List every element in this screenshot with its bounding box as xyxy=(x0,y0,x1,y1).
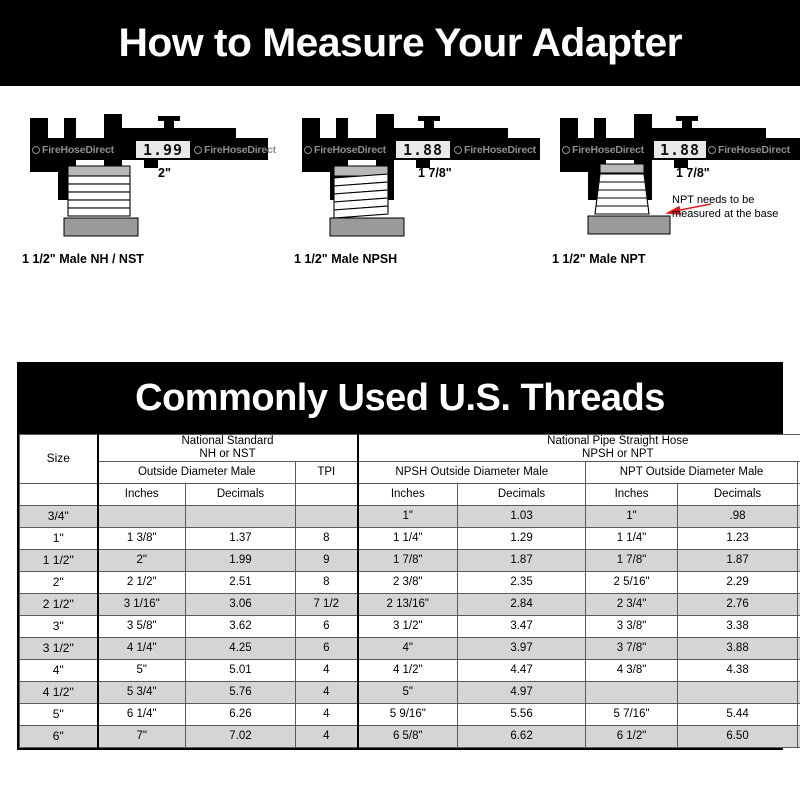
cell-nh_tpi: 6 xyxy=(296,616,358,638)
page-title: How to Measure Your Adapter xyxy=(118,21,682,66)
header-unit-inches-npt: Inches xyxy=(586,484,678,506)
cell-npsh_dec: 4.47 xyxy=(458,660,586,682)
table-title: Commonly Used U.S. Threads xyxy=(135,377,665,420)
cell-nh_in: 7" xyxy=(98,726,186,748)
header-ns-line1: National Standard xyxy=(99,435,357,448)
cell-npt_in: 3 3/8" xyxy=(586,616,678,638)
cell-npsh_in: 5 9/16" xyxy=(358,704,458,726)
header-od-male: Outside Diameter Male xyxy=(98,462,296,484)
page-title-banner: How to Measure Your Adapter xyxy=(0,0,800,86)
caliper-illustration-npsh xyxy=(290,100,540,250)
cell-size: 1 1/2" xyxy=(20,550,98,572)
cell-size: 5" xyxy=(20,704,98,726)
header-unit-inches-nh: Inches xyxy=(98,484,186,506)
dimension-label-npt: 1 7/8" xyxy=(676,166,710,180)
header-npt-od-male: NPT Outside Diameter Male xyxy=(586,462,798,484)
cell-npt_dec: 3.38 xyxy=(678,616,798,638)
table-row: 6"7"7.0246 5/8"6.626 1/2"6.508 xyxy=(20,726,800,748)
cell-nh_tpi: 9 xyxy=(296,550,358,572)
cell-nh_tpi: 4 xyxy=(296,682,358,704)
table-row: 3 1/2"4 1/4"4.2564"3.973 7/8"3.888 xyxy=(20,638,800,660)
table-header-row-group: Size National Standard NH or NST Nationa… xyxy=(20,435,800,462)
cell-nh_tpi: 8 xyxy=(296,572,358,594)
table-header-row-sub: Outside Diameter Male TPI NPSH Outside D… xyxy=(20,462,800,484)
cell-nh_dec: 5.76 xyxy=(186,682,296,704)
cell-nh_in: 4 1/4" xyxy=(98,638,186,660)
cell-npt_in: 1 1/4" xyxy=(586,528,678,550)
caliper-lcd-display-nh: 1.99 xyxy=(135,140,191,159)
cell-npt_in: 2 3/4" xyxy=(586,594,678,616)
cell-npt_dec: 1.87 xyxy=(678,550,798,572)
npt-note: NPT needs to be measured at the base xyxy=(672,194,778,222)
header-nps-line2: NPSH or NPT xyxy=(359,448,800,461)
caliper-illustration-npt xyxy=(548,100,800,250)
table-row: 1"1 3/8"1.3781 1/4"1.291 1/4"1.2311 1/2 xyxy=(20,528,800,550)
cell-nh_tpi: 4 xyxy=(296,704,358,726)
table-row: 4"5"5.0144 1/2"4.474 3/8"4.388 xyxy=(20,660,800,682)
diagram-nh-nst: 1.99 FireHoseDirect FireHoseDirect 2" 1 … xyxy=(18,100,268,280)
cell-nh_dec: 3.62 xyxy=(186,616,296,638)
cell-npsh_in: 1" xyxy=(358,506,458,528)
cell-nh_dec: 4.25 xyxy=(186,638,296,660)
cell-nh_in: 5 3/4" xyxy=(98,682,186,704)
lcd-reading: 1.99 xyxy=(143,141,183,159)
header-unit-decimals-nh: Decimals xyxy=(186,484,296,506)
header-unit-inches-npsh: Inches xyxy=(358,484,458,506)
cell-npsh_dec: 2.84 xyxy=(458,594,586,616)
caliper-illustration-nh xyxy=(18,100,268,250)
cell-npsh_in: 4" xyxy=(358,638,458,660)
cell-npt_in: 1 7/8" xyxy=(586,550,678,572)
cell-npsh_in: 6 5/8" xyxy=(358,726,458,748)
header-size: Size xyxy=(20,435,98,484)
diagram-caption-nh: 1 1/2" Male NH / NST xyxy=(22,252,144,266)
dimension-label-npsh: 1 7/8" xyxy=(418,166,452,180)
table-body: 3/4"1"1.031".98141"1 3/8"1.3781 1/4"1.29… xyxy=(20,506,800,748)
cell-size: 1" xyxy=(20,528,98,550)
table-row: 1 1/2"2"1.9991 7/8"1.871 7/8"1.8711 1/2 xyxy=(20,550,800,572)
cell-size: 3/4" xyxy=(20,506,98,528)
cell-npsh_in: 5" xyxy=(358,682,458,704)
cell-npt_dec: 5.44 xyxy=(678,704,798,726)
infographic-page: How to Measure Your Adapter FireHoseDire… xyxy=(0,0,800,800)
cell-nh_dec: 1.37 xyxy=(186,528,296,550)
cell-nh_tpi: 4 xyxy=(296,726,358,748)
table-row: 5"6 1/4"6.2645 9/16"5.565 7/16"5.448 xyxy=(20,704,800,726)
cell-nh_tpi: 7 1/2 xyxy=(296,594,358,616)
cell-size: 2" xyxy=(20,572,98,594)
table-row: 4 1/2"5 3/4"5.7645"4.978 xyxy=(20,682,800,704)
threads-table: Size National Standard NH or NST Nationa… xyxy=(19,434,800,748)
cell-nh_in: 3 5/8" xyxy=(98,616,186,638)
cell-npsh_dec: 5.56 xyxy=(458,704,586,726)
cell-npsh_dec: 3.47 xyxy=(458,616,586,638)
cell-npsh_dec: 2.35 xyxy=(458,572,586,594)
header-nps-line1: National Pipe Straight Hose xyxy=(359,435,800,448)
cell-npsh_in: 2 3/8" xyxy=(358,572,458,594)
npt-note-line2: measured at the base xyxy=(672,208,778,222)
diagram-caption-npsh: 1 1/2" Male NPSH xyxy=(294,252,397,266)
cell-npt_in: 5 7/16" xyxy=(586,704,678,726)
cell-nh_in: 5" xyxy=(98,660,186,682)
cell-npt_dec: 3.88 xyxy=(678,638,798,660)
cell-nh_dec: 6.26 xyxy=(186,704,296,726)
header-npsh-od-male: NPSH Outside Diameter Male xyxy=(358,462,586,484)
threads-table-container: Size National Standard NH or NST Nationa… xyxy=(17,434,783,750)
header-unit-tpi-nh-blank xyxy=(296,484,358,506)
cell-nh_tpi: 8 xyxy=(296,528,358,550)
lcd-reading: 1.88 xyxy=(660,141,700,159)
diagram-npt: 1.88 FireHoseDirect FireHoseDirect 1 7/8… xyxy=(548,100,798,280)
cell-npt_dec: .98 xyxy=(678,506,798,528)
table-row: 3/4"1"1.031".9814 xyxy=(20,506,800,528)
cell-npsh_in: 1 1/4" xyxy=(358,528,458,550)
table-header-row-units: Inches Decimals Inches Decimals Inches D… xyxy=(20,484,800,506)
npt-note-line1: NPT needs to be xyxy=(672,194,778,208)
cell-npsh_dec: 1.87 xyxy=(458,550,586,572)
cell-size: 4" xyxy=(20,660,98,682)
cell-size: 6" xyxy=(20,726,98,748)
cell-nh_dec: 7.02 xyxy=(186,726,296,748)
cell-npt_dec: 4.38 xyxy=(678,660,798,682)
cell-npsh_dec: 1.29 xyxy=(458,528,586,550)
table-row: 3"3 5/8"3.6263 1/2"3.473 3/8"3.388 xyxy=(20,616,800,638)
caliper-diagram-section: FireHoseDirect xyxy=(0,86,800,354)
cell-size: 3 1/2" xyxy=(20,638,98,660)
cell-nh_in: 2 1/2" xyxy=(98,572,186,594)
cell-npt_dec xyxy=(678,682,798,704)
cell-npsh_dec: 3.97 xyxy=(458,638,586,660)
cell-size: 4 1/2" xyxy=(20,682,98,704)
cell-nh_dec: 2.51 xyxy=(186,572,296,594)
cell-npsh_in: 1 7/8" xyxy=(358,550,458,572)
cell-nh_dec xyxy=(186,506,296,528)
diagram-caption-npt: 1 1/2" Male NPT xyxy=(552,252,645,266)
cell-npt_in: 6 1/2" xyxy=(586,726,678,748)
caliper-lcd-display-npt: 1.88 xyxy=(653,140,707,159)
cell-npsh_in: 2 13/16" xyxy=(358,594,458,616)
cell-size: 3" xyxy=(20,616,98,638)
header-group-national-standard: National Standard NH or NST xyxy=(98,435,358,462)
cell-nh_in: 3 1/16" xyxy=(98,594,186,616)
cell-nh_tpi: 6 xyxy=(296,638,358,660)
cell-size: 2 1/2" xyxy=(20,594,98,616)
cell-nh_dec: 3.06 xyxy=(186,594,296,616)
cell-nh_tpi xyxy=(296,506,358,528)
cell-npt_dec: 6.50 xyxy=(678,726,798,748)
lcd-reading: 1.88 xyxy=(403,141,443,159)
dimension-label-nh: 2" xyxy=(158,166,171,180)
cell-nh_tpi: 4 xyxy=(296,660,358,682)
cell-npt_dec: 1.23 xyxy=(678,528,798,550)
header-unit-decimals-npsh: Decimals xyxy=(458,484,586,506)
cell-nh_in xyxy=(98,506,186,528)
cell-npsh_dec: 4.97 xyxy=(458,682,586,704)
cell-npsh_in: 4 1/2" xyxy=(358,660,458,682)
table-title-banner: Commonly Used U.S. Threads xyxy=(17,362,783,434)
cell-npt_in xyxy=(586,682,678,704)
header-ns-line2: NH or NST xyxy=(99,448,357,461)
cell-npt_in: 3 7/8" xyxy=(586,638,678,660)
cell-npt_in: 1" xyxy=(586,506,678,528)
caliper-lcd-display-npsh: 1.88 xyxy=(395,140,451,159)
cell-npsh_dec: 6.62 xyxy=(458,726,586,748)
cell-npsh_dec: 1.03 xyxy=(458,506,586,528)
header-group-national-pipe-straight-hose: National Pipe Straight Hose NPSH or NPT xyxy=(358,435,800,462)
cell-nh_in: 1 3/8" xyxy=(98,528,186,550)
header-unit-decimals-npt: Decimals xyxy=(678,484,798,506)
cell-npt_in: 2 5/16" xyxy=(586,572,678,594)
cell-npsh_in: 3 1/2" xyxy=(358,616,458,638)
cell-nh_dec: 1.99 xyxy=(186,550,296,572)
diagram-npsh: 1.88 FireHoseDirect FireHoseDirect 1 7/8… xyxy=(290,100,540,280)
table-row: 2"2 1/2"2.5182 3/8"2.352 5/16"2.2911 1/2 xyxy=(20,572,800,594)
cell-nh_in: 6 1/4" xyxy=(98,704,186,726)
cell-npt_dec: 2.29 xyxy=(678,572,798,594)
cell-nh_dec: 5.01 xyxy=(186,660,296,682)
header-tpi-left: TPI xyxy=(296,462,358,484)
cell-npt_in: 4 3/8" xyxy=(586,660,678,682)
table-row: 2 1/2"3 1/16"3.067 1/22 13/16"2.842 3/4"… xyxy=(20,594,800,616)
header-unit-size-blank xyxy=(20,484,98,506)
cell-npt_dec: 2.76 xyxy=(678,594,798,616)
cell-nh_in: 2" xyxy=(98,550,186,572)
